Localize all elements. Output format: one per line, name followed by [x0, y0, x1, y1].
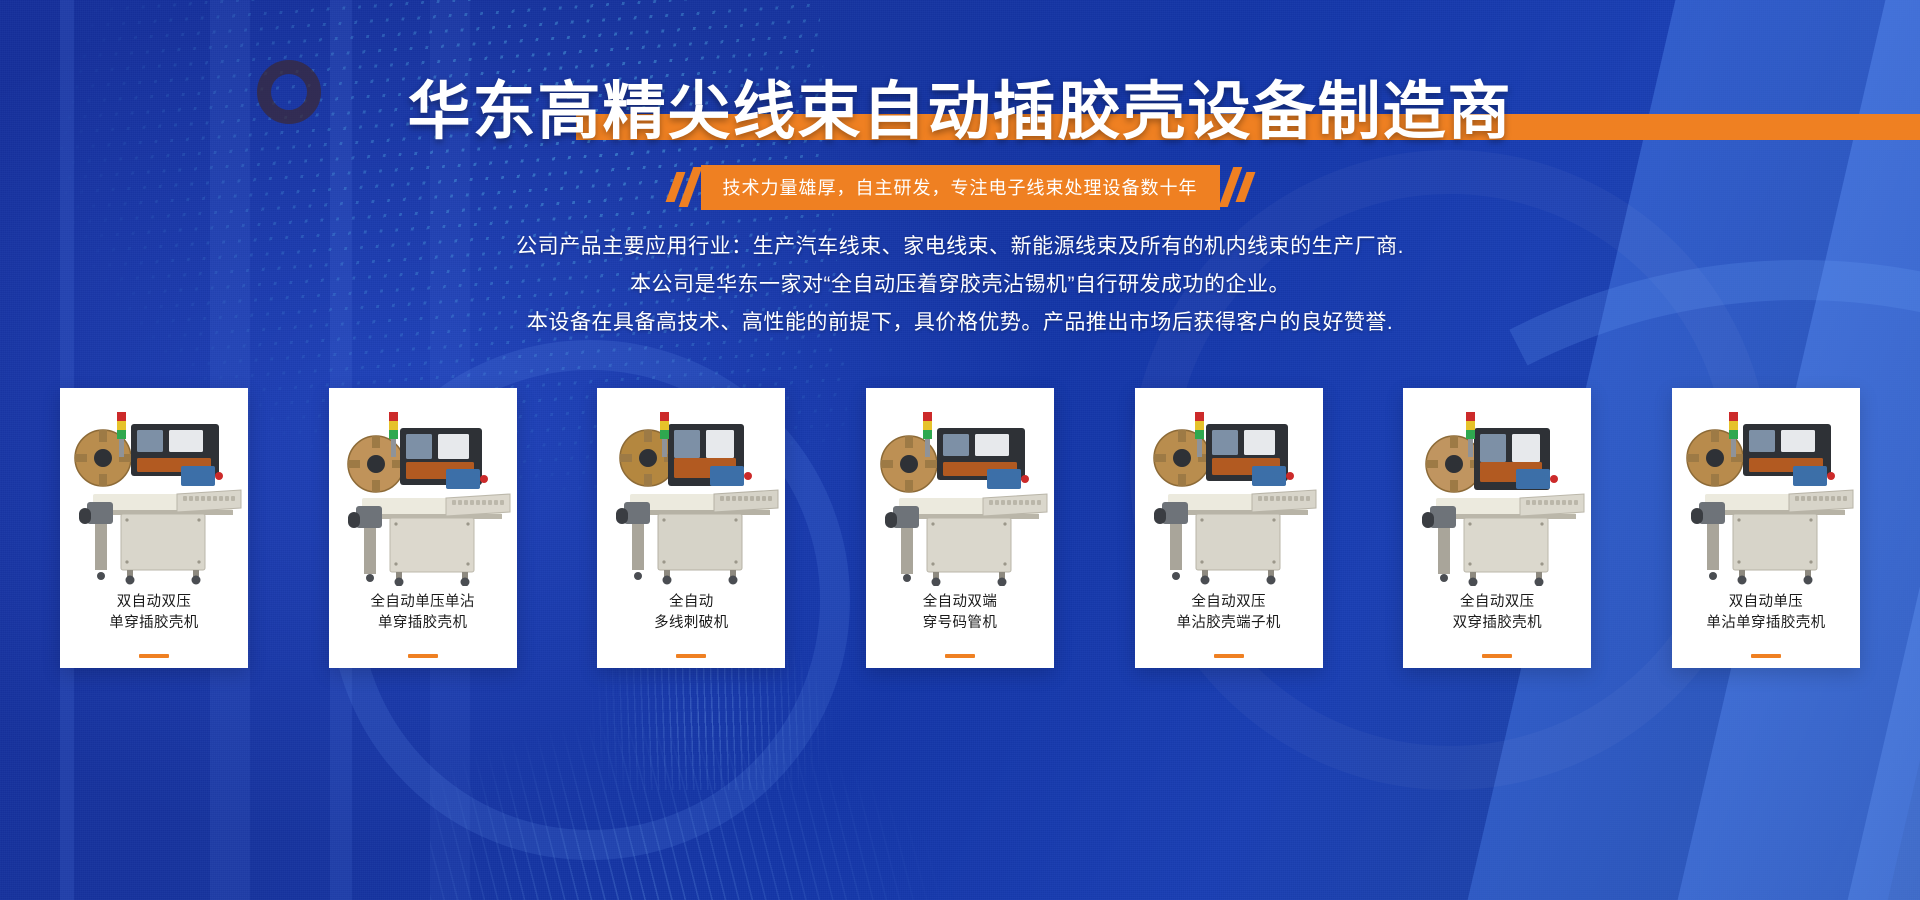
product-image-5 [1135, 388, 1323, 588]
product-card-5[interactable]: 全自动双压 单沾胶壳端子机 [1135, 388, 1323, 668]
description-paragraph: 公司产品主要应用行业：生产汽车线束、家电线束、新能源线束及所有的机内线束的生产厂… [0, 228, 1920, 342]
product-label-line-2: 单穿插胶壳机 [329, 613, 517, 634]
slash-decoration-left-icon [671, 167, 701, 207]
product-image-3 [597, 388, 785, 588]
machine-illustration [65, 390, 243, 586]
machine-illustration [1408, 390, 1586, 586]
product-underline-accent [408, 654, 438, 658]
product-label-line-2: 双穿插胶壳机 [1403, 613, 1591, 634]
slash-decoration-right-icon [1220, 167, 1250, 207]
subtitle-text: 技术力量雄厚，自主研发，专注电子线束处理设备数十年 [701, 165, 1220, 210]
product-label-line-1: 全自动双压 [1135, 592, 1323, 613]
product-label-line-1: 全自动单压单沾 [329, 592, 517, 613]
product-card-6[interactable]: 全自动双压 双穿插胶壳机 [1403, 388, 1591, 668]
product-label-line-2: 单穿插胶壳机 [60, 613, 248, 634]
product-underline-accent [1214, 654, 1244, 658]
product-card-2[interactable]: 全自动单压单沾 单穿插胶壳机 [329, 388, 517, 668]
machine-illustration [1677, 390, 1855, 586]
promotional-banner: 华东高精尖线束自动插胶壳设备制造商 技术力量雄厚，自主研发，专注电子线束处理设备… [0, 0, 1920, 900]
product-underline-accent [676, 654, 706, 658]
description-line-1: 公司产品主要应用行业：生产汽车线束、家电线束、新能源线束及所有的机内线束的生产厂… [0, 228, 1920, 266]
machine-illustration [1140, 390, 1318, 586]
product-underline-accent [139, 654, 169, 658]
product-card-3[interactable]: 全自动 多线刺破机 [597, 388, 785, 668]
product-image-7 [1672, 388, 1860, 588]
product-card-4[interactable]: 全自动双端 穿号码管机 [866, 388, 1054, 668]
product-label: 全自动双压 单沾胶壳端子机 [1135, 588, 1323, 649]
product-label-line-1: 全自动双压 [1403, 592, 1591, 613]
product-label-line-2: 单沾胶壳端子机 [1135, 613, 1323, 634]
page-title: 华东高精尖线束自动插胶壳设备制造商 [0, 66, 1920, 158]
product-label-line-1: 全自动 [597, 592, 785, 613]
product-card-7[interactable]: 双自动单压 单沾单穿插胶壳机 [1672, 388, 1860, 668]
product-card-list: 双自动双压 单穿插胶壳机 [60, 388, 1860, 668]
machine-illustration [334, 390, 512, 586]
machine-illustration [602, 390, 780, 586]
product-label-line-2: 多线刺破机 [597, 613, 785, 634]
product-label: 双自动双压 单穿插胶壳机 [60, 588, 248, 649]
product-card-1[interactable]: 双自动双压 单穿插胶壳机 [60, 388, 248, 668]
machine-illustration [871, 390, 1049, 586]
subtitle-ribbon: 技术力量雄厚，自主研发，专注电子线束处理设备数十年 [0, 164, 1920, 210]
product-image-4 [866, 388, 1054, 588]
product-label-line-2: 单沾单穿插胶壳机 [1672, 613, 1860, 634]
description-line-3: 本设备在具备高技术、高性能的前提下，具价格优势。产品推出市场后获得客户的良好赞誉… [0, 304, 1920, 342]
product-image-2 [329, 388, 517, 588]
product-underline-accent [945, 654, 975, 658]
product-label-line-1: 双自动双压 [60, 592, 248, 613]
product-label-line-2: 穿号码管机 [866, 613, 1054, 634]
product-label: 全自动双压 双穿插胶壳机 [1403, 588, 1591, 649]
product-image-6 [1403, 388, 1591, 588]
product-label: 全自动 多线刺破机 [597, 588, 785, 649]
product-label: 全自动双端 穿号码管机 [866, 588, 1054, 649]
product-label-line-1: 双自动单压 [1672, 592, 1860, 613]
product-label: 双自动单压 单沾单穿插胶壳机 [1672, 588, 1860, 649]
product-underline-accent [1482, 654, 1512, 658]
product-label: 全自动单压单沾 单穿插胶壳机 [329, 588, 517, 649]
product-label-line-1: 全自动双端 [866, 592, 1054, 613]
headline-block: 华东高精尖线束自动插胶壳设备制造商 [0, 66, 1920, 158]
description-line-2: 本公司是华东一家对“全自动压着穿胶壳沾锡机”自行研发成功的企业。 [0, 266, 1920, 304]
product-underline-accent [1751, 654, 1781, 658]
product-image-1 [60, 388, 248, 588]
